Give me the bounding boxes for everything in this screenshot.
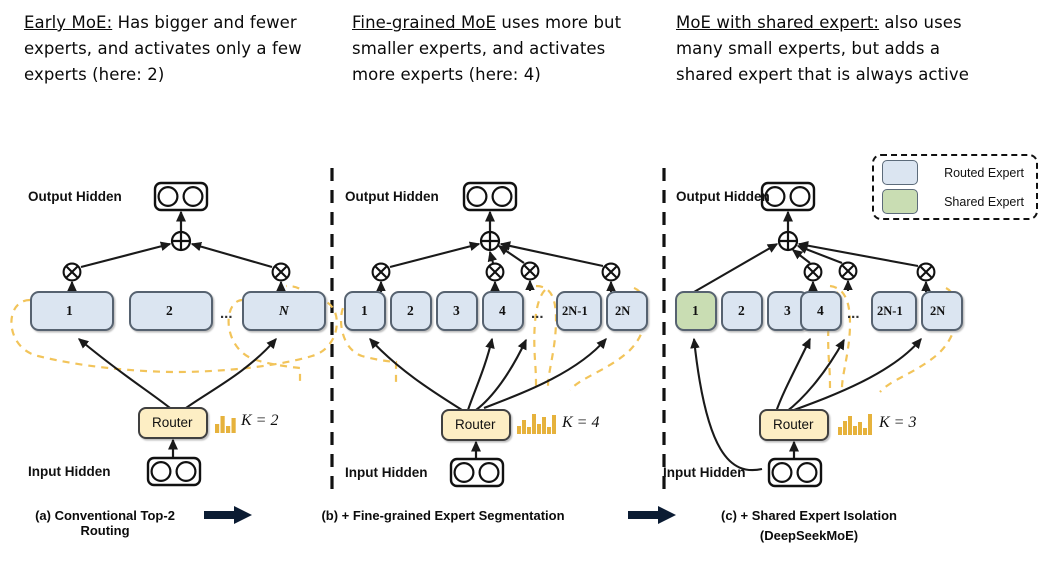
expert-label-c-2: 2 [738,303,745,319]
diagram-svg [0,0,1046,565]
panel-a-graphics [11,183,336,485]
router-distribution-chart-c [838,414,872,435]
expert-label-b-1: 1 [361,303,368,319]
router-label-a[interactable]: Router [152,415,193,430]
edge-router-eN-a [186,339,276,408]
expert-label-c-5: 2N-1 [877,304,903,319]
edge-mul1-sum-a [81,244,170,267]
input-hidden-unit-2-b [480,463,499,482]
mul-node-b-2 [487,264,504,281]
output-hidden-unit-2-b [493,187,512,206]
caption-panel-a: (a) Conventional Top-2 Routing [15,508,195,538]
edge-mul2-sum-a [192,244,272,267]
expert-label-b-4: 4 [499,303,506,319]
output-hidden-unit-1-b [468,187,487,206]
output-hidden-unit-2-c [791,187,810,206]
caption-panel-c-line2: (DeepSeekMoE) [684,528,934,543]
edge-router-e2n-c [794,339,921,410]
input-hidden-unit-1-b [455,463,474,482]
mul-node-c-1 [805,264,822,281]
routing-envelope-b2 [536,286,556,386]
edge-mul4-sum-b [501,244,603,266]
input-hidden-label-b: Input Hidden [345,465,427,480]
expert-label-c-6: 2N [930,304,945,319]
mul-node-b-4 [603,264,620,281]
panel-b-graphics [341,183,647,486]
expert-ellipsis-a: ... [220,305,233,322]
k-label-c: K = 3 [879,414,916,432]
expert-label-c-1: 1 [692,303,699,319]
expert-label-b-6: 2N [615,304,630,319]
input-hidden-unit-2-c [798,463,817,482]
mul-node-c-3 [918,264,935,281]
input-hidden-label-c: Input Hidden [663,465,745,480]
edge-mul2-sum-b [490,252,493,263]
expert-ellipsis-b: ... [531,305,544,322]
router-label-b[interactable]: Router [455,417,496,432]
mul-node-b-3 [522,263,539,280]
caption-panel-c: (c) + Shared Expert Isolation [684,508,934,523]
input-hidden-unit-2-a [177,462,196,481]
diagram-canvas: Early MoE: Has bigger and fewer experts,… [0,0,1046,565]
edge-router-e1-a [79,339,170,408]
expert-label-c-3: 3 [784,303,791,319]
input-hidden-label-a: Input Hidden [28,464,110,479]
edge-mul1-sum-c [793,250,810,263]
output-hidden-unit-1-a [159,187,178,206]
expert-label-b-3: 3 [453,303,460,319]
caption-panel-b: (b) + Fine-grained Expert Segmentation [264,508,622,523]
output-hidden-label-b: Output Hidden [345,189,439,204]
mul-node-b-1 [373,264,390,281]
expert-label-c-4: 4 [817,303,824,319]
expert-label-a-1: 1 [66,303,73,319]
edge-mul1-sum-b [390,244,479,267]
edge-shared-sum-c [694,244,777,292]
input-hidden-unit-1-a [152,462,171,481]
output-hidden-unit-2-a [184,187,203,206]
edge-input-shared-c [694,339,762,470]
router-label-c[interactable]: Router [773,417,814,432]
edge-mul3-sum-c [799,244,918,266]
input-hidden-unit-1-c [773,463,792,482]
edge-router-edots-b [476,340,526,410]
mul-node-a-2 [273,264,290,281]
panel-c-graphics [676,183,962,486]
edge-router-e2n-b [484,339,606,408]
edge-router-e1-b [370,339,462,410]
expert-label-b-5: 2N-1 [562,304,588,319]
expert-ellipsis-c: ... [847,305,860,322]
output-hidden-label-a: Output Hidden [28,189,122,204]
edge-router-e4-c [776,339,810,412]
router-distribution-chart-a [215,416,236,433]
mul-node-a-1 [64,264,81,281]
k-label-b: K = 4 [562,414,599,432]
expert-label-a-2: 2 [166,303,173,319]
router-distribution-chart-b [517,414,556,434]
expert-label-a-3: N [279,303,289,319]
k-label-a: K = 2 [241,412,278,430]
output-hidden-label-c: Output Hidden [676,189,770,204]
mul-node-c-2 [840,263,857,280]
expert-label-b-2: 2 [407,303,414,319]
